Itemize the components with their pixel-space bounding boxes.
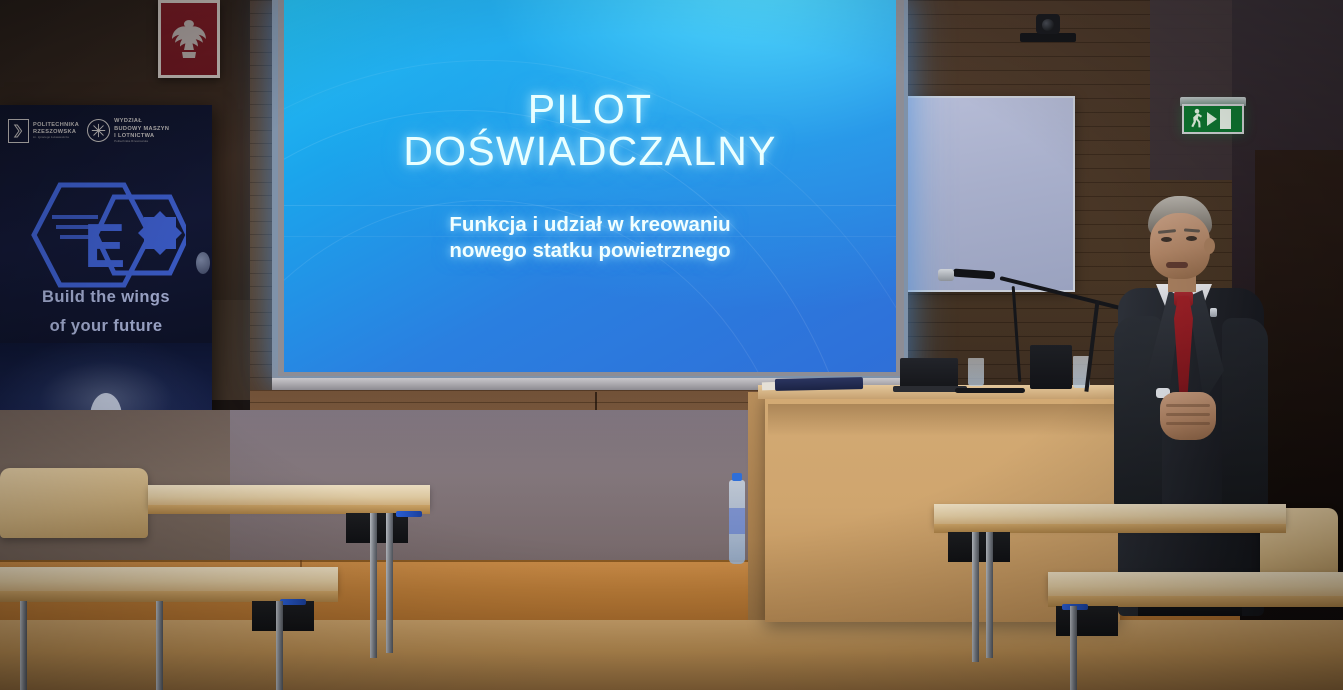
- table-top: [148, 485, 430, 507]
- speaker-eye: [1161, 237, 1172, 242]
- table-leg: [276, 601, 283, 690]
- table-accent-strip: [396, 511, 422, 517]
- whiteboard: [905, 96, 1075, 292]
- slide-title-line-1: PILOT: [284, 88, 896, 130]
- slide-subtitle: Funkcja i udział w kreowaniu nowego stat…: [284, 212, 896, 264]
- table-accent-strip: [280, 599, 306, 605]
- exit-arrow-icon: [1207, 112, 1217, 126]
- finger-line: [1166, 422, 1210, 425]
- table-leg: [1070, 606, 1077, 690]
- chair-backrest: [0, 468, 148, 538]
- podium-side-panel: [748, 392, 766, 620]
- banner-slogan: Build the wings of your future: [0, 283, 212, 341]
- banner-slogan-line-1: Build the wings: [0, 283, 212, 312]
- table-leg: [20, 601, 27, 690]
- speaker-lapel-pin: [1210, 308, 1217, 317]
- camera-lens-icon: [1042, 19, 1054, 31]
- table-leg: [386, 513, 393, 653]
- slide-title-line-2: DOŚWIADCZALNY: [284, 130, 896, 172]
- banner-slogan-line-2: of your future: [0, 312, 212, 341]
- table: [1048, 572, 1343, 634]
- finger-line: [1166, 413, 1210, 416]
- table-top: [934, 504, 1286, 526]
- logo-right-sub: Politechnika Rzeszowska: [114, 140, 169, 144]
- wydzial-logo-icon: [87, 119, 110, 142]
- speaker-eye: [1186, 236, 1197, 241]
- table: [0, 567, 338, 629]
- bottle-label: [729, 508, 745, 534]
- table-apron: [346, 513, 408, 543]
- emergency-exit-sign: [1182, 104, 1244, 134]
- logo-right-line-2: BUDOWY MASZYN: [114, 126, 169, 133]
- speaker-right-arm: [1222, 318, 1268, 522]
- table-top: [1048, 572, 1343, 598]
- white-eagle-icon: [169, 16, 209, 62]
- water-bottle: [729, 480, 745, 564]
- polish-coat-of-arms-frame: [158, 0, 220, 78]
- table-leg: [156, 601, 163, 690]
- slide-title: PILOT DOŚWIADCZALNY: [284, 88, 896, 172]
- politechnika-logo-text: POLITECHNIKA RZESZOWSKA im. Ignacego Łuk…: [33, 122, 79, 140]
- table-leg: [370, 513, 377, 658]
- logo-left-sub: im. Ignacego Łukasiewicza: [33, 136, 79, 140]
- audio-equipment-box: [1030, 345, 1072, 389]
- exit-door-icon: [1220, 109, 1231, 129]
- table-apron: [1056, 606, 1118, 636]
- slide-subtitle-line-2: nowego statku powietrznego: [284, 238, 896, 264]
- desk-cables: [955, 388, 1025, 393]
- logo-left-line-1: POLITECHNIKA: [33, 122, 79, 129]
- speaker-ear: [1204, 238, 1215, 254]
- table: [148, 485, 430, 543]
- notebook-on-desk: [775, 377, 863, 391]
- speaker-clasped-hands: [1160, 392, 1216, 440]
- banner-logo-wydzial: WYDZIAŁ BUDOWY MASZYN I LOTNICTWA Polite…: [87, 118, 169, 143]
- table-apron: [948, 532, 1010, 562]
- table: [934, 504, 1286, 564]
- politechnika-logo-icon: [8, 119, 29, 143]
- svg-text:E: E: [84, 212, 125, 281]
- speaker-mouth: [1166, 262, 1188, 268]
- table-top: [0, 567, 338, 593]
- water-glass: [968, 358, 984, 386]
- banner-logo-politechnika: POLITECHNIKA RZESZOWSKA im. Ignacego Łuk…: [8, 119, 79, 143]
- banner-side-knob: [196, 252, 210, 274]
- table-leg: [986, 532, 993, 658]
- laptop: [900, 358, 958, 388]
- microphone-head-icon: [938, 269, 954, 281]
- table-apron: [252, 601, 314, 631]
- banner-hexagon-emblem-icon: E: [26, 179, 186, 291]
- chair: [0, 468, 148, 538]
- banner-logo-row: POLITECHNIKA RZESZOWSKA im. Ignacego Łuk…: [0, 111, 212, 151]
- slide-divider-line: [284, 205, 896, 206]
- wydzial-logo-text: WYDZIAŁ BUDOWY MASZYN I LOTNICTWA Polite…: [114, 118, 169, 143]
- speaker-face: [1150, 213, 1210, 279]
- table-leg: [972, 532, 979, 662]
- bottle-cap: [732, 473, 742, 481]
- finger-line: [1166, 404, 1210, 407]
- lecture-hall-screenshot: PILOT DOŚWIADCZALNY Funkcja i udział w k…: [0, 0, 1343, 690]
- running-man-icon: [1187, 108, 1205, 130]
- podium-shadow: [768, 404, 1118, 436]
- camera-mount-bracket: [1020, 33, 1076, 42]
- slide-subtitle-line-1: Funkcja i udział w kreowaniu: [284, 212, 896, 238]
- coat-of-arms-shield: [161, 3, 217, 75]
- projection-screen: PILOT DOŚWIADCZALNY Funkcja i udział w k…: [284, 0, 896, 372]
- logo-right-line-1: WYDZIAŁ: [114, 118, 169, 125]
